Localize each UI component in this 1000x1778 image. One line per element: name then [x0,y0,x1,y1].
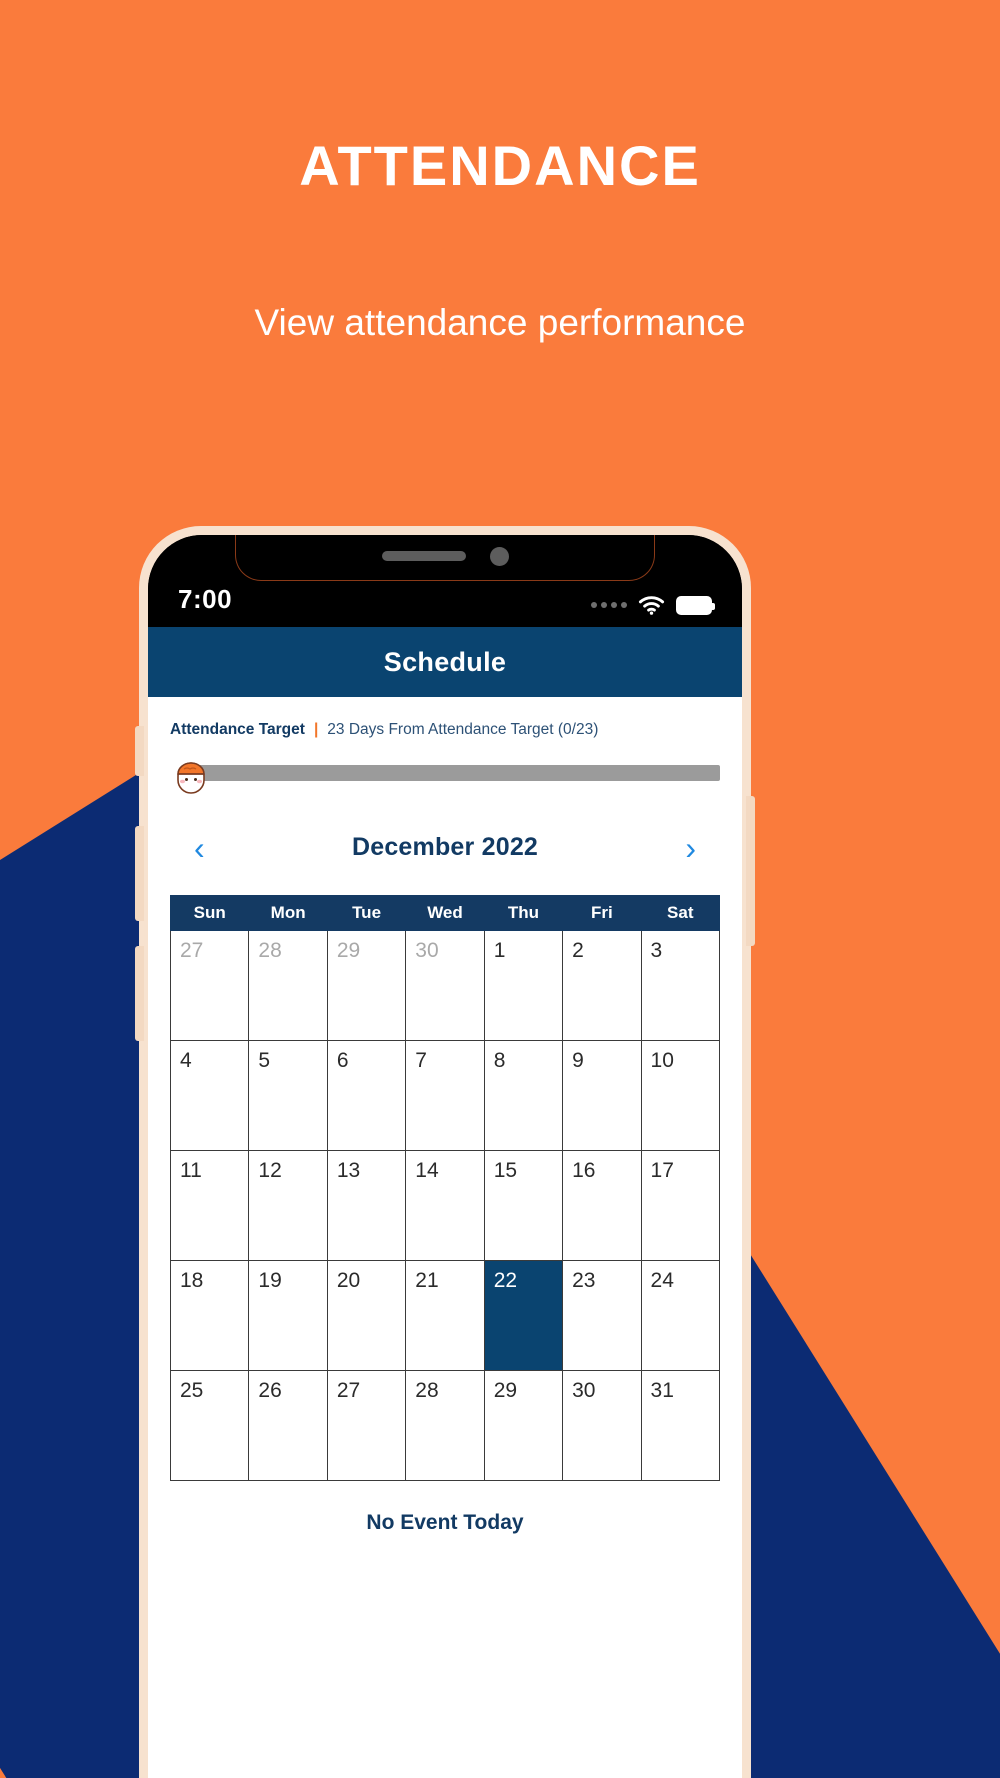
calendar-day-cell[interactable]: 16 [563,1150,641,1260]
phone-body: 7:00 [148,535,742,1778]
calendar-day-cell[interactable]: 1 [484,930,562,1040]
calendar-day-cell[interactable]: 3 [641,930,719,1040]
calendar-day-cell[interactable]: 7 [406,1040,484,1150]
calendar-week-row: 18192021222324 [171,1260,720,1370]
calendar-day-cell[interactable]: 25 [171,1370,249,1480]
attendance-target-row: Attendance Target | 23 Days From Attenda… [148,697,742,738]
phone-notch [320,535,570,577]
mascot-avatar-icon [170,752,212,794]
calendar-day-cell[interactable]: 29 [484,1370,562,1480]
calendar-weekday-wed: Wed [406,895,484,930]
calendar-day-cell[interactable]: 15 [484,1150,562,1260]
calendar-day-cell[interactable]: 2 [563,930,641,1040]
app-screen: Schedule Attendance Target | 23 Days Fro… [148,627,742,1778]
attendance-progress-bar [170,752,720,792]
calendar-day-cell[interactable]: 5 [249,1040,327,1150]
signal-dots-icon [591,602,627,608]
promo-subheadline: View attendance performance [0,304,1000,341]
calendar-weekday-mon: Mon [249,895,327,930]
calendar-day-cell[interactable]: 17 [641,1150,719,1260]
attendance-target-detail: 23 Days From Attendance Target (0/23) [327,722,598,738]
calendar-week-row: 25262728293031 [171,1370,720,1480]
calendar-weekday-tue: Tue [327,895,405,930]
phone-button-mute[interactable] [135,726,144,776]
calendar-weekday-sun: Sun [171,895,249,930]
calendar-day-cell[interactable]: 29 [327,930,405,1040]
app-header: Schedule [148,627,742,697]
calendar-day-cell[interactable]: 30 [563,1370,641,1480]
calendar-day-cell[interactable]: 26 [249,1370,327,1480]
page-title: Schedule [384,647,506,678]
calendar-day-cell[interactable]: 24 [641,1260,719,1370]
phone-button-volume-up[interactable] [135,826,144,921]
calendar-day-cell[interactable]: 23 [563,1260,641,1370]
phone-button-volume-down[interactable] [135,946,144,1041]
front-camera-icon [490,547,509,566]
calendar-grid: SunMonTueWedThuFriSat 272829301234567891… [170,895,720,1481]
calendar-day-cell-selected[interactable]: 22 [484,1260,562,1370]
promo-text-block: ATTENDANCE View attendance performance [0,0,1000,341]
attendance-target-separator: | [314,722,318,738]
status-icons [591,595,712,615]
attendance-target-label: Attendance Target [170,722,305,738]
promo-headline: ATTENDANCE [0,138,1000,194]
calendar-weekday-thu: Thu [484,895,562,930]
calendar-day-cell[interactable]: 13 [327,1150,405,1260]
phone-button-power[interactable] [746,796,755,946]
wifi-icon [638,595,665,615]
calendar-weekday-fri: Fri [563,895,641,930]
calendar-day-cell[interactable]: 11 [171,1150,249,1260]
calendar-month-title: December 2022 [352,833,538,862]
calendar-week-row: 45678910 [171,1040,720,1150]
calendar-day-cell[interactable]: 8 [484,1040,562,1150]
calendar-week-row: 11121314151617 [171,1150,720,1260]
calendar-day-cell[interactable]: 9 [563,1040,641,1150]
phone-mockup: 7:00 [139,526,751,1778]
calendar-day-cell[interactable]: 4 [171,1040,249,1150]
calendar-day-cell[interactable]: 30 [406,930,484,1040]
calendar-day-cell[interactable]: 28 [249,930,327,1040]
calendar-week-row: 27282930123 [171,930,720,1040]
calendar-day-cell[interactable]: 27 [171,930,249,1040]
calendar-day-cell[interactable]: 12 [249,1150,327,1260]
calendar-day-cell[interactable]: 6 [327,1040,405,1150]
calendar-day-cell[interactable]: 14 [406,1150,484,1260]
calendar-day-cell[interactable]: 28 [406,1370,484,1480]
calendar-day-cell[interactable]: 31 [641,1370,719,1480]
earpiece-speaker-icon [382,551,466,561]
calendar-weekday-sat: Sat [641,895,719,930]
prev-month-button[interactable]: ‹ [194,832,205,864]
calendar-weekday-header: SunMonTueWedThuFriSat [171,895,720,930]
event-status-text: No Event Today [148,1511,742,1535]
calendar-day-cell[interactable]: 21 [406,1260,484,1370]
calendar-day-cell[interactable]: 19 [249,1260,327,1370]
status-time: 7:00 [178,584,232,615]
next-month-button[interactable]: › [685,832,696,864]
progress-track [198,765,720,781]
calendar-month-nav: ‹ December 2022 › [148,792,742,864]
battery-full-icon [676,596,712,615]
calendar-day-cell[interactable]: 10 [641,1040,719,1150]
calendar-day-cell[interactable]: 27 [327,1370,405,1480]
calendar-day-cell[interactable]: 20 [327,1260,405,1370]
calendar-day-cell[interactable]: 18 [171,1260,249,1370]
